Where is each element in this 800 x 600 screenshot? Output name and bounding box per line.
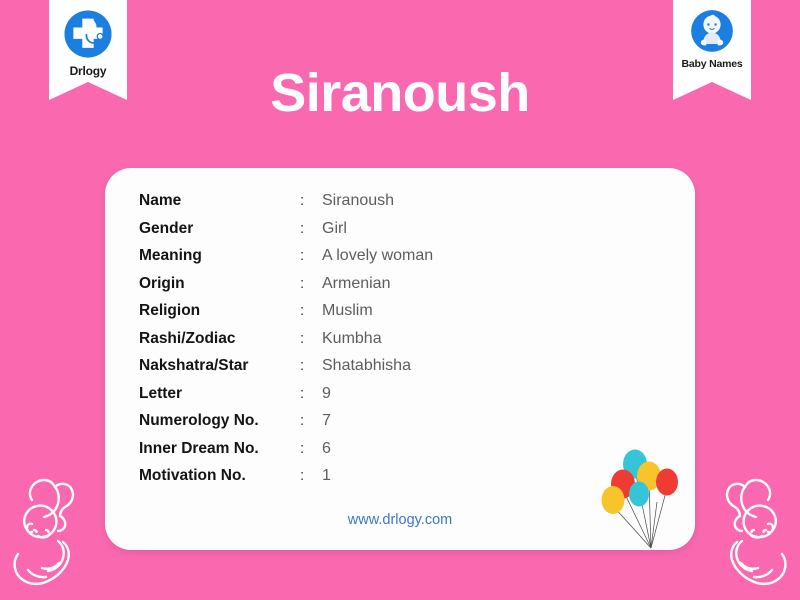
row-label: Numerology No.: [139, 412, 300, 430]
row-value: Muslim: [322, 302, 373, 320]
table-row: Letter : 9: [139, 385, 433, 413]
name-info-card: Name : Siranoush Gender : Girl Meaning :…: [105, 168, 695, 550]
page-title: Siranoush: [0, 66, 800, 120]
row-separator: :: [300, 412, 322, 429]
row-value: Shatabhisha: [322, 357, 411, 375]
table-row: Motivation No. : 1: [139, 467, 433, 495]
table-row: Nakshatra/Star : Shatabhisha: [139, 357, 433, 385]
row-label: Origin: [139, 275, 300, 293]
row-separator: :: [300, 302, 322, 319]
row-separator: :: [300, 357, 322, 374]
row-value: 7: [322, 412, 331, 430]
row-value: Kumbha: [322, 330, 382, 348]
row-separator: :: [300, 275, 322, 292]
table-row: Inner Dream No. : 6: [139, 440, 433, 468]
row-separator: :: [300, 247, 322, 264]
row-separator: :: [300, 330, 322, 347]
row-value: 9: [322, 385, 331, 403]
row-separator: :: [300, 440, 322, 457]
row-label: Rashi/Zodiac: [139, 330, 300, 348]
table-row: Religion : Muslim: [139, 302, 433, 330]
row-separator: :: [300, 467, 322, 484]
row-label: Gender: [139, 220, 300, 238]
table-row: Rashi/Zodiac : Kumbha: [139, 330, 433, 358]
row-label: Motivation No.: [139, 467, 300, 485]
row-separator: :: [300, 220, 322, 237]
row-label: Religion: [139, 302, 300, 320]
table-row: Name : Siranoush: [139, 192, 433, 220]
row-label: Letter: [139, 385, 300, 403]
row-value: Siranoush: [322, 192, 394, 210]
row-separator: :: [300, 385, 322, 402]
mother-and-baby-illustration-left: [0, 466, 104, 598]
table-row: Meaning : A lovely woman: [139, 247, 433, 275]
row-value: A lovely woman: [322, 247, 433, 265]
table-row: Gender : Girl: [139, 220, 433, 248]
row-label: Name: [139, 192, 300, 210]
table-row: Origin : Armenian: [139, 275, 433, 303]
row-label: Nakshatra/Star: [139, 357, 300, 375]
baby-icon: [689, 8, 735, 54]
row-value: 6: [322, 440, 331, 458]
name-details-table: Name : Siranoush Gender : Girl Meaning :…: [139, 192, 433, 495]
row-value: 1: [322, 467, 331, 485]
drlogy-medical-cross-icon: [62, 8, 114, 60]
row-value: Armenian: [322, 275, 390, 293]
balloons-illustration: [599, 444, 691, 550]
mother-and-baby-illustration-right: [696, 466, 800, 598]
table-row: Numerology No. : 7: [139, 412, 433, 440]
row-separator: :: [300, 192, 322, 209]
row-value: Girl: [322, 220, 347, 238]
row-label: Inner Dream No.: [139, 440, 300, 458]
row-label: Meaning: [139, 247, 300, 265]
